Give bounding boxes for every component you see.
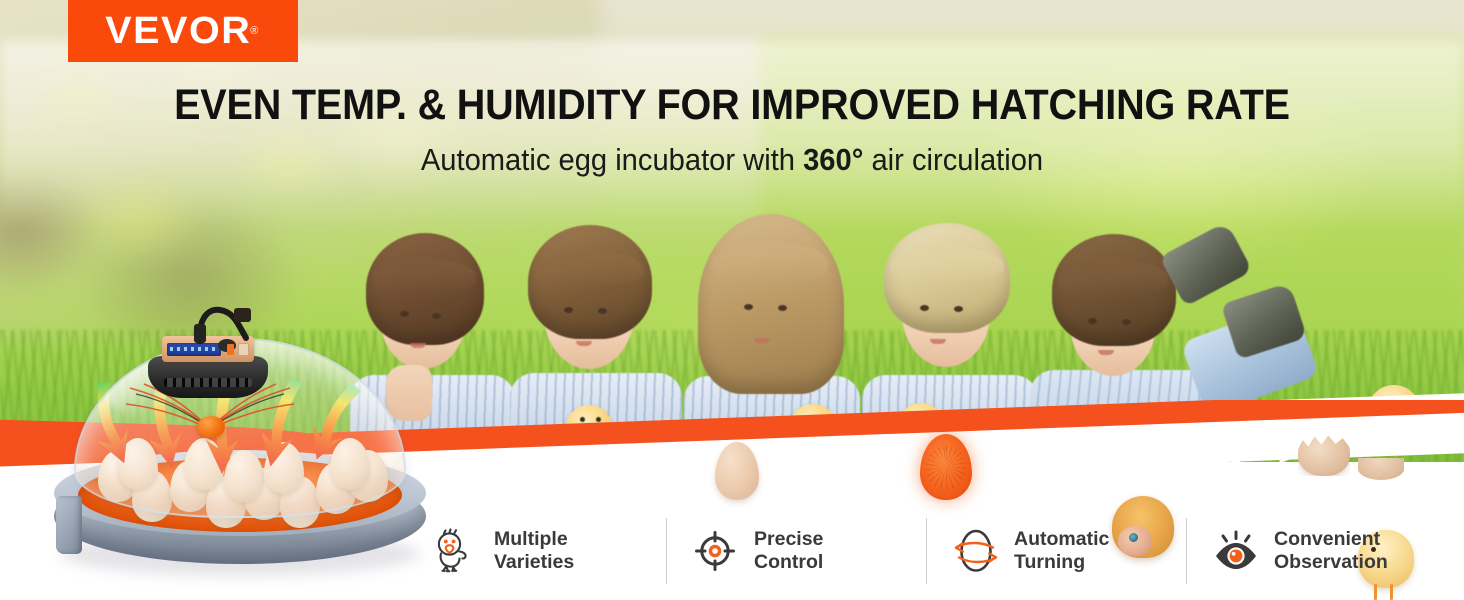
child-3-eye-left (744, 304, 753, 310)
vevor-logo[interactable]: VEVOR® (68, 0, 298, 62)
incubator-turning-knob (197, 416, 225, 438)
feature-label-line1: Multiple (494, 528, 574, 551)
child-4-mouth (930, 339, 946, 344)
feature-label-line1: Convenient (1274, 528, 1388, 551)
feature-multiple-varieties: Multiple Varieties (406, 508, 666, 594)
page-title: EVEN TEMP. & HUMIDITY FOR IMPROVED HATCH… (59, 80, 1406, 130)
registered-trademark-icon: ® (250, 25, 258, 37)
egg-rotation-icon (952, 527, 1000, 575)
feature-label-line1: Automatic (1014, 528, 1109, 551)
child-4-fringe (890, 247, 1004, 283)
child-1-fringe (372, 259, 476, 293)
child-3-hair (698, 214, 844, 394)
child-2-eye-left (564, 307, 573, 313)
subtitle: Automatic egg incubator with 360° air ci… (44, 141, 1420, 179)
feature-precise-control: Precise Control (666, 508, 926, 594)
lifecycle-broken-shell (1298, 430, 1350, 476)
lifecycle-candled-egg (920, 434, 972, 500)
feature-label-line2: Turning (1014, 551, 1109, 574)
feature-label-line2: Control (754, 551, 823, 574)
crosshair-target-icon (692, 527, 740, 575)
child-2-fringe (534, 251, 644, 287)
feature-label: Precise Control (754, 528, 823, 574)
child-3-eye-right (778, 305, 787, 311)
feature-label: Multiple Varieties (494, 528, 574, 574)
vevor-logo-text: VEVOR (105, 10, 251, 53)
incubator-lcd-display (167, 343, 221, 356)
subtitle-emphasis: 360° (803, 142, 863, 177)
child-4-eye-left (920, 305, 929, 311)
incubator-motor-housing (148, 356, 268, 398)
lifecycle-shell-half (1358, 458, 1404, 480)
feature-label: Convenient Observation (1274, 528, 1388, 574)
eye-observation-icon (1212, 527, 1260, 575)
incubator-button-set[interactable] (238, 343, 249, 356)
product-promo-banner: VEVOR® EVEN TEMP. & HUMIDITY FOR IMPROVE… (0, 0, 1464, 600)
subtitle-before: Automatic egg incubator with (421, 142, 803, 177)
child-2-mouth (576, 341, 592, 346)
feature-label-line1: Precise (754, 528, 823, 551)
egg-incubator-product (40, 300, 440, 590)
child-5-eye-left (1088, 318, 1097, 324)
child-3-fringe (712, 242, 828, 284)
feature-convenient-observation: Convenient Observation (1186, 508, 1446, 594)
child-5-mouth (1098, 350, 1114, 355)
child-4-eye-right (954, 306, 963, 312)
feature-label: Automatic Turning (1014, 528, 1109, 574)
child-2-eye-right (598, 308, 607, 314)
feature-label-line2: Varieties (494, 551, 574, 574)
lifecycle-arrow-2 (1020, 454, 1100, 488)
feature-automatic-turning: Automatic Turning (926, 508, 1186, 594)
incubator-power-cable (190, 304, 236, 338)
feature-label-line2: Observation (1274, 551, 1388, 574)
lifecycle-arrow-3 (1222, 442, 1302, 476)
lifecycle-arrow-1 (812, 462, 892, 496)
chick-icon (432, 527, 480, 575)
child-3-mouth (754, 338, 770, 343)
lifecycle-fertile-egg (715, 442, 759, 500)
subtitle-after: air circulation (863, 142, 1043, 177)
feature-strip: Multiple Varieties Precise Control (406, 508, 1446, 594)
incubator-button-orange[interactable] (227, 344, 234, 355)
child-5-eye-right (1122, 319, 1131, 325)
child-5-fringe (1058, 260, 1168, 296)
